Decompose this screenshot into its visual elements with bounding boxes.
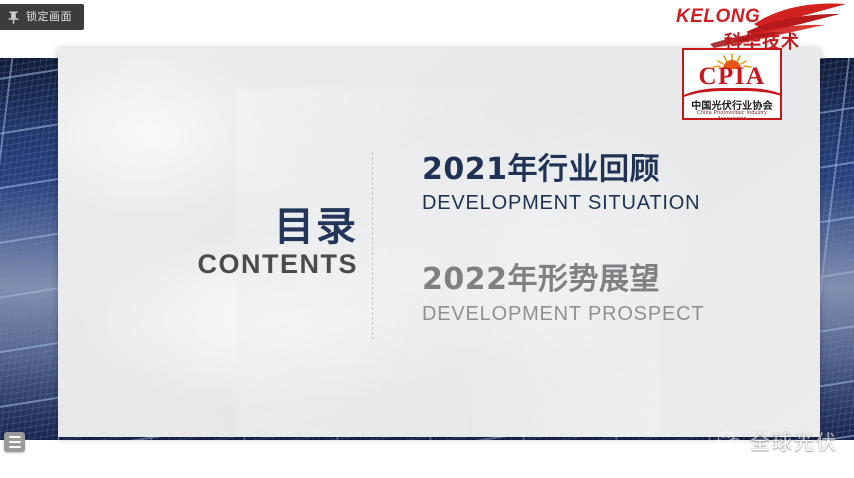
contents-heading: 目录 CONTENTS — [118, 206, 358, 280]
watermark-text: 全球光伏 — [750, 426, 838, 455]
hamburger-menu-icon[interactable] — [4, 432, 25, 452]
agenda-item-2[interactable]: 2022年形势展望 DEVELOPMENT PROSPECT — [422, 262, 772, 326]
agenda-item-1-title-en: DEVELOPMENT SITUATION — [422, 190, 772, 216]
lock-screen-button[interactable]: 锁定画面 — [0, 4, 84, 30]
agenda-list: 2021年行业回顾 DEVELOPMENT SITUATION 2022年形势展… — [422, 152, 772, 373]
kelong-logo: KELONG 科华技术 — [672, 2, 848, 52]
lock-screen-label: 锁定画面 — [26, 4, 72, 30]
agenda-item-2-title-en: DEVELOPMENT PROSPECT — [422, 301, 772, 327]
agenda-item-2-title-cn: 2022年形势展望 — [422, 262, 772, 297]
contents-title-en: CONTENTS — [118, 249, 358, 280]
menu-line — [9, 446, 21, 448]
menu-line — [9, 436, 21, 438]
cpia-name-en: China Photovoltaic Industry Association — [684, 110, 780, 120]
cpia-wordmark: CPIA — [684, 63, 780, 91]
wechat-icon — [717, 430, 743, 452]
agenda-item-1-title-cn: 2021年行业回顾 — [422, 152, 772, 187]
menu-line — [9, 441, 21, 443]
pin-icon — [8, 11, 19, 24]
wechat-watermark: 全球光伏 — [717, 426, 838, 455]
contents-title-cn: 目录 — [118, 206, 358, 248]
screen: 目录 CONTENTS 2021年行业回顾 DEVELOPMENT SITUAT… — [0, 0, 854, 478]
kelong-wordmark: KELONG — [676, 6, 760, 28]
agenda-item-1[interactable]: 2021年行业回顾 DEVELOPMENT SITUATION — [422, 152, 772, 216]
vertical-dashed-divider — [372, 152, 373, 340]
cpia-logo: CPIA 中国光伏行业协会 China Photovoltaic Industr… — [682, 48, 782, 120]
